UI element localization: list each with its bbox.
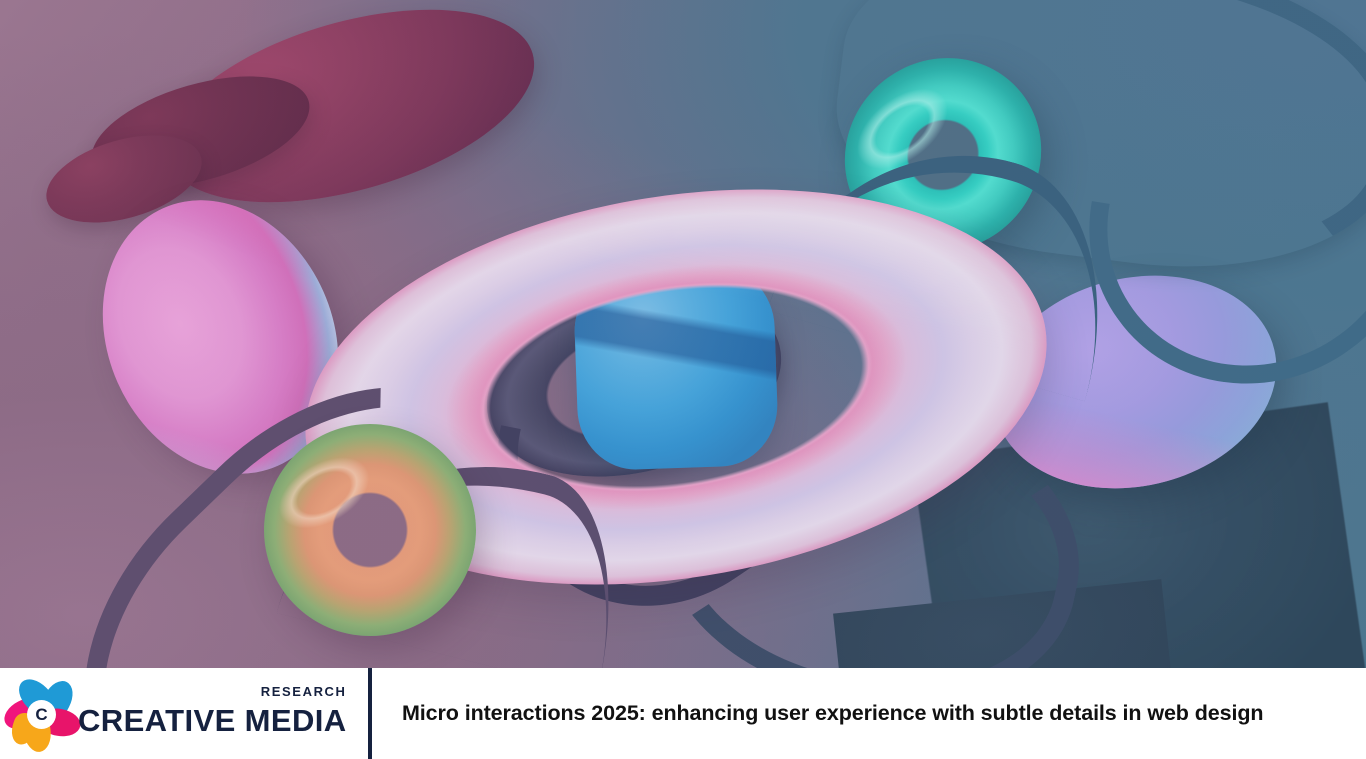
brand-name: CREATIVE MEDIA [78,705,347,736]
brand-text: RESEARCH CREATIVE MEDIA [78,683,347,745]
article-headline: Micro interactions 2025: enhancing user … [402,701,1263,727]
creative-media-logo-icon: C [10,683,72,745]
brand-research-label: RESEARCH [261,685,347,698]
logo-letter-c: C [27,700,56,729]
article-card: C RESEARCH CREATIVE MEDIA Micro interact… [0,0,1366,759]
headline-block: Micro interactions 2025: enhancing user … [372,668,1366,759]
brand-block[interactable]: C RESEARCH CREATIVE MEDIA [0,668,372,759]
brand-divider [368,668,372,759]
hero-artwork [0,0,1366,668]
footer-bar: C RESEARCH CREATIVE MEDIA Micro interact… [0,668,1366,759]
